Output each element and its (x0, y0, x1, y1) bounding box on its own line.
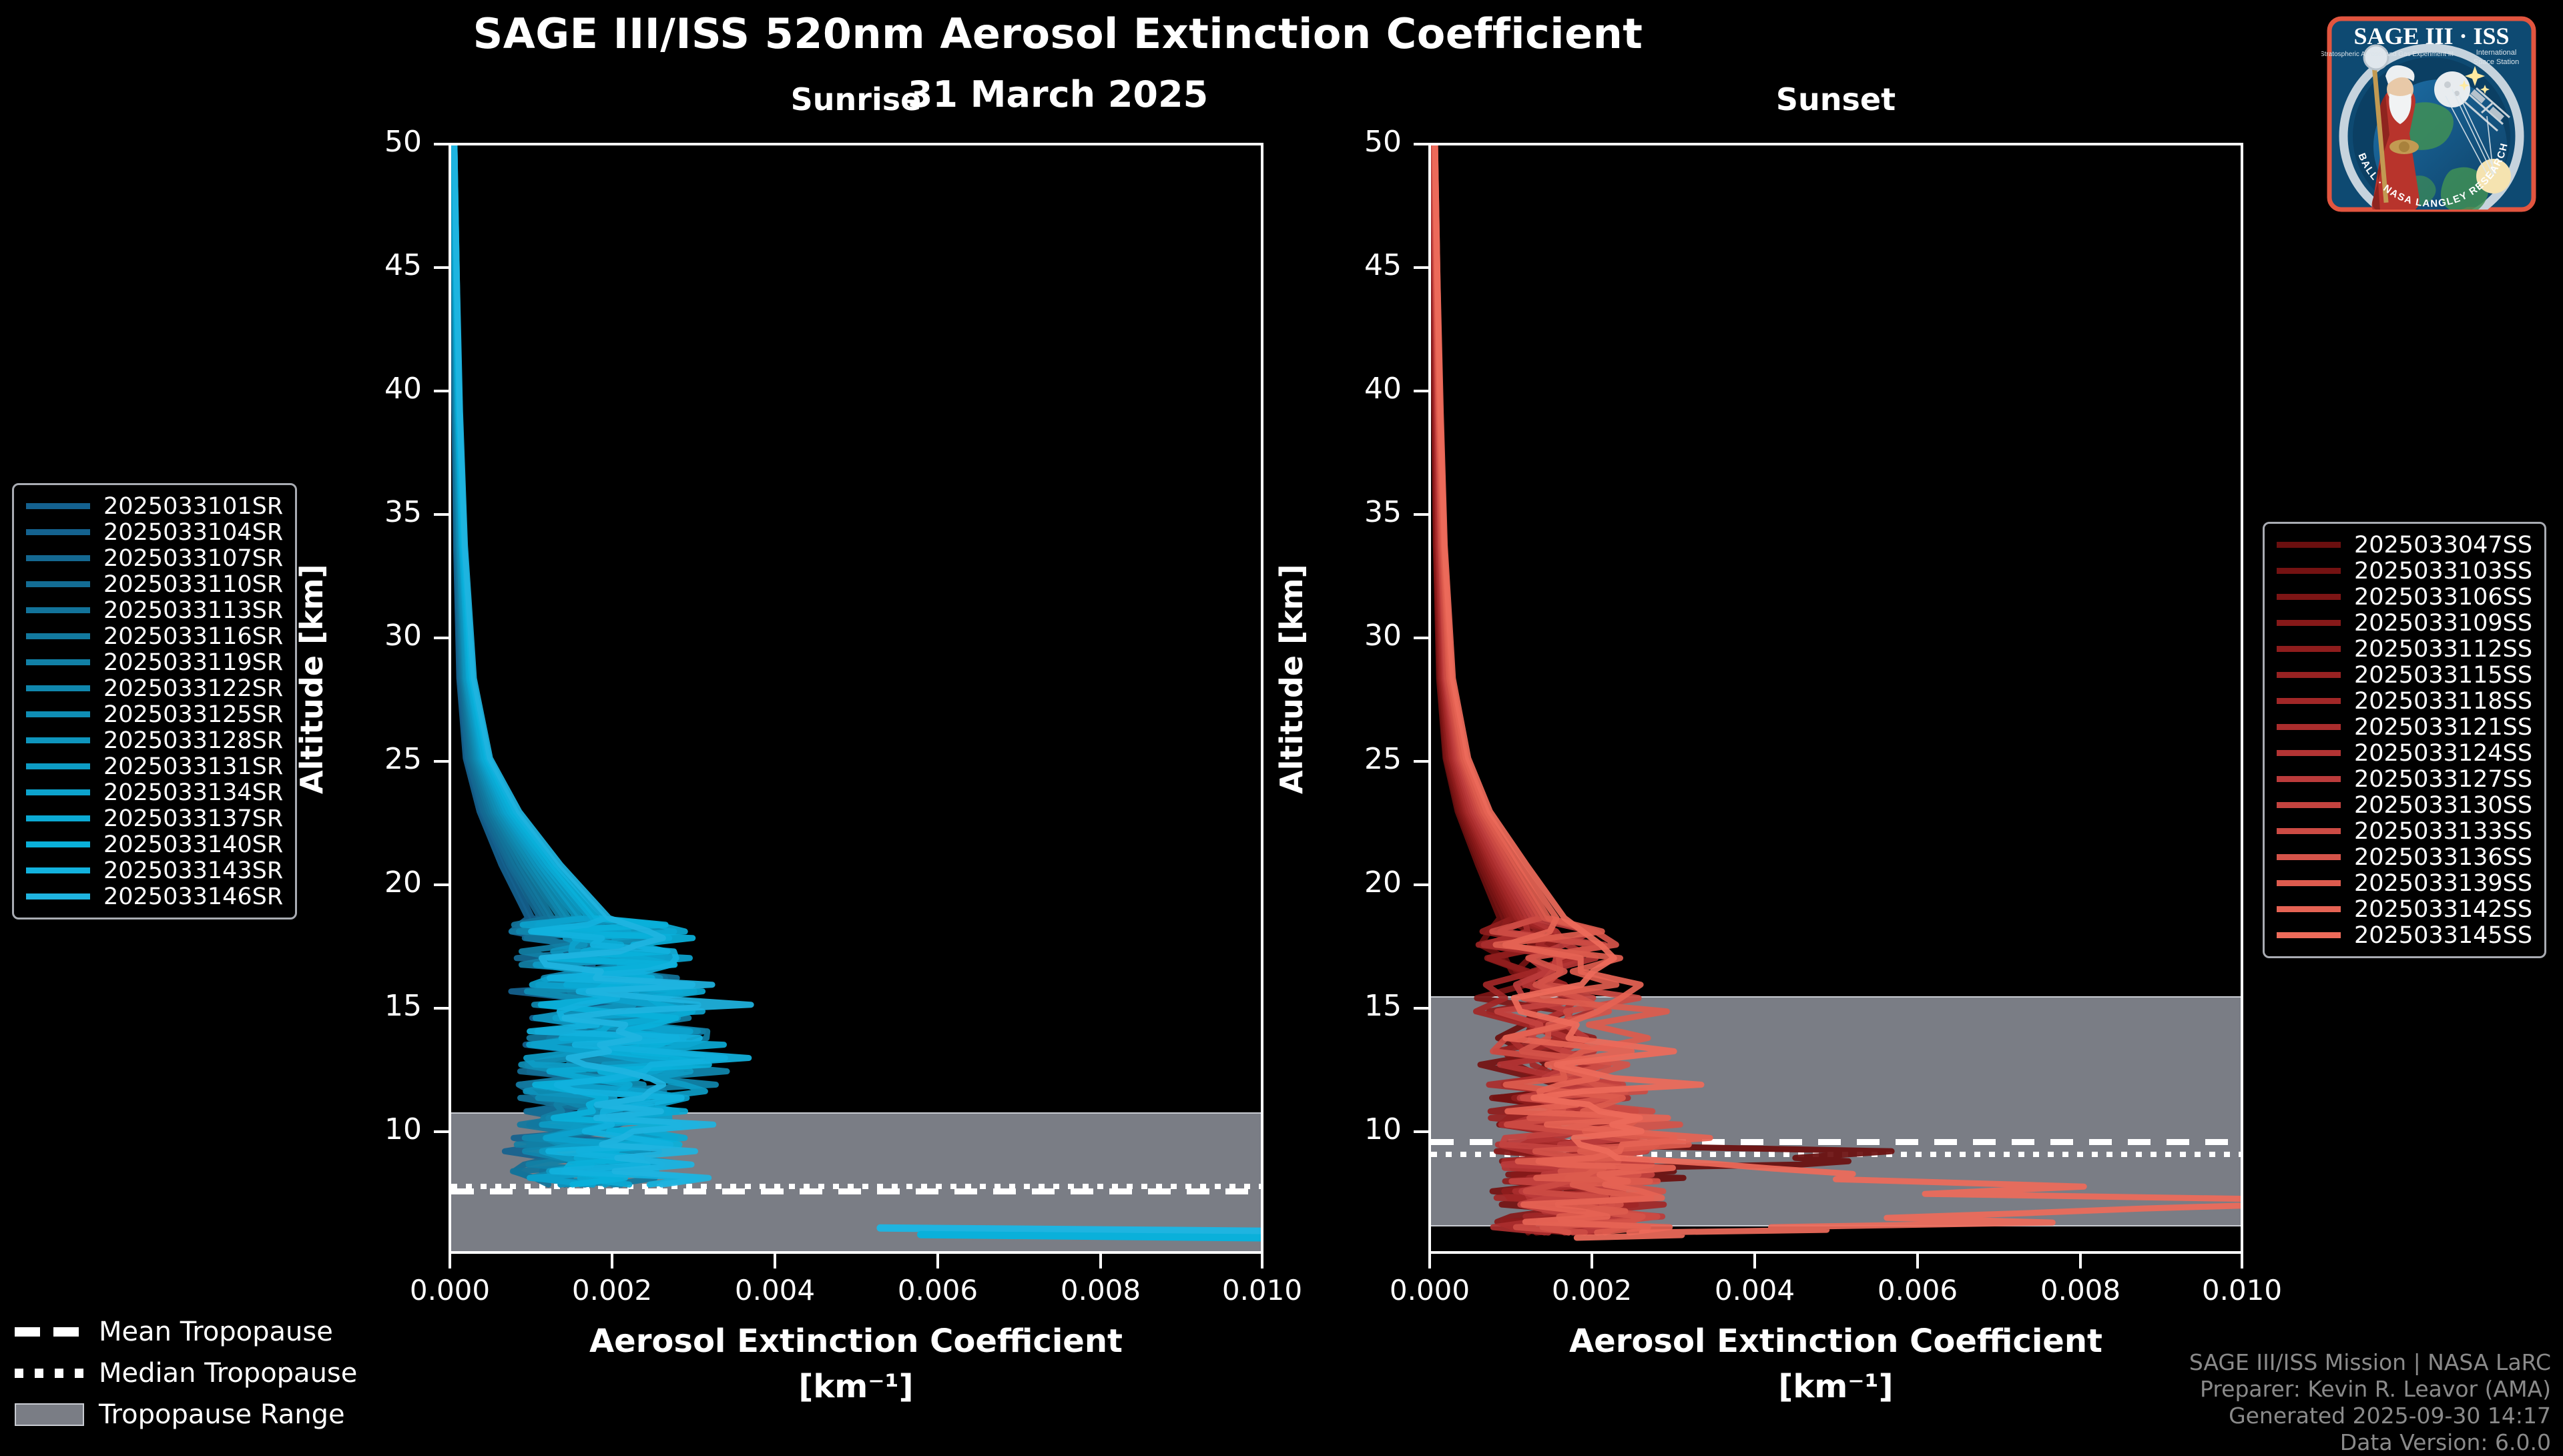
dashed-line-icon (15, 1327, 84, 1337)
line-color-swatch-icon (2277, 724, 2341, 730)
x-tick-label: 0.000 (1353, 1274, 1506, 1307)
line-color-swatch-icon (2277, 750, 2341, 756)
legend-label: 2025033128SR (103, 727, 283, 754)
band-swatch-icon (15, 1403, 84, 1426)
line-color-swatch-icon (2277, 776, 2341, 782)
y-tick-left (434, 390, 449, 392)
legend-item[interactable]: 2025033104SR (26, 519, 283, 545)
credit-line-preparer: Preparer: Kevin R. Leavor (AMA) (2189, 1376, 2551, 1403)
legend-label: 2025033142SS (2354, 896, 2532, 923)
legend-sunset[interactable]: 2025033047SS2025033103SS2025033106SS2025… (2263, 522, 2546, 958)
line-color-swatch-icon (2277, 646, 2341, 652)
x-tick-label: 0.010 (1185, 1274, 1339, 1307)
legend-label: 2025033103SS (2354, 558, 2532, 585)
line-color-swatch-icon (2277, 802, 2341, 808)
line-color-swatch-icon (26, 659, 90, 665)
x-tick-left (611, 1254, 613, 1268)
x-tick-right (1428, 1254, 1431, 1268)
legend-label: 2025033145SS (2354, 922, 2532, 949)
y-tick-label: 35 (322, 495, 422, 529)
logo-subtitle-left: Stratospheric Aerosol and Gas Experiment… (2321, 51, 2454, 58)
legend-item[interactable]: 2025033122SR (26, 675, 283, 701)
legend-label: 2025033119SR (103, 649, 283, 676)
line-color-swatch-icon (2277, 906, 2341, 912)
x-axis-title-left: Aerosol Extinction Coefficient (449, 1323, 1263, 1360)
x-tick-left (449, 1254, 451, 1268)
x-tick-label: 0.004 (698, 1274, 852, 1307)
legend-item[interactable]: 2025033145SS (2277, 922, 2532, 948)
x-tick-label: 0.010 (2165, 1274, 2319, 1307)
logo-subtitle-right-1: International (2476, 49, 2517, 57)
legend-item-tropopause-range[interactable]: Tropopause Range (15, 1394, 357, 1435)
series-lines-sunset (1431, 145, 2241, 1251)
legend-item[interactable]: 2025033119SR (26, 649, 283, 675)
x-tick-right (1916, 1254, 1919, 1268)
x-tick-label: 0.002 (535, 1274, 689, 1307)
line-color-swatch-icon (2277, 854, 2341, 860)
legend-label: Tropopause Range (99, 1399, 345, 1430)
legend-label: 2025033101SR (103, 493, 283, 520)
legend-item[interactable]: 2025033113SR (26, 597, 283, 623)
y-tick-right (1414, 1130, 1428, 1133)
y-tick-label: 15 (1302, 989, 1402, 1023)
line-color-swatch-icon (26, 789, 90, 795)
y-axis-title-left: Altitude [km] (294, 564, 330, 794)
y-tick-right (1414, 390, 1428, 392)
x-axis-unit-right: [km⁻¹] (1428, 1368, 2243, 1405)
y-tick-label: 30 (1302, 619, 1402, 653)
legend-label: 2025033140SR (103, 831, 283, 858)
legend-label: 2025033134SR (103, 779, 283, 806)
line-color-swatch-icon (26, 633, 90, 639)
legend-label: 2025033127SS (2354, 766, 2532, 793)
line-color-swatch-icon (2277, 594, 2341, 600)
line-color-swatch-icon (26, 867, 90, 873)
x-axis-title-right: Aerosol Extinction Coefficient (1428, 1323, 2243, 1360)
x-tick-label: 0.006 (861, 1274, 1015, 1307)
y-tick-label: 40 (322, 372, 422, 406)
y-tick-left (434, 143, 449, 145)
x-tick-right (2079, 1254, 2082, 1268)
legend-label: 2025033125SR (103, 701, 283, 728)
profile-line-offscale (880, 1228, 1261, 1231)
legend-item[interactable]: 2025033133SS (2277, 818, 2532, 844)
credits-block: SAGE III/ISS Mission | NASA LaRC Prepare… (2189, 1349, 2551, 1456)
legend-label: 2025033137SR (103, 805, 283, 832)
x-axis-unit-left: [km⁻¹] (449, 1368, 1263, 1405)
y-tick-left (434, 883, 449, 886)
legend-label: 2025033124SS (2354, 740, 2532, 767)
x-tick-right (1591, 1254, 1593, 1268)
legend-label: 2025033112SS (2354, 636, 2532, 663)
legend-label: 2025033133SS (2354, 818, 2532, 845)
legend-label: Mean Tropopause (99, 1317, 333, 1347)
line-color-swatch-icon (2277, 672, 2341, 678)
legend-item[interactable]: 2025033115SS (2277, 662, 2532, 688)
legend-item[interactable]: 2025033109SS (2277, 610, 2532, 636)
legend-item[interactable]: 2025033143SR (26, 857, 283, 883)
legend-label: 2025033139SS (2354, 870, 2532, 897)
x-tick-left (1099, 1254, 1102, 1268)
x-tick-left (936, 1254, 939, 1268)
legend-label: 2025033118SS (2354, 688, 2532, 715)
legend-item[interactable]: 2025033142SS (2277, 896, 2532, 922)
y-tick-label: 15 (322, 989, 422, 1023)
legend-item-mean-tropopause[interactable]: Mean Tropopause (15, 1311, 357, 1353)
y-tick-label: 50 (1302, 125, 1402, 159)
x-tick-right (1753, 1254, 1756, 1268)
plot-panel-sunrise (449, 143, 1263, 1254)
legend-item[interactable]: 2025033110SR (26, 571, 283, 597)
x-tick-label: 0.002 (1515, 1274, 1669, 1307)
legend-label: 2025033107SR (103, 545, 283, 572)
legend-item[interactable]: 2025033124SS (2277, 740, 2532, 766)
logo-subtitle-right-2: Space Station (2474, 58, 2520, 66)
legend-item[interactable]: 2025033140SR (26, 831, 283, 857)
legend-item[interactable]: 2025033136SS (2277, 844, 2532, 870)
series-lines-sunrise (451, 145, 1261, 1251)
y-tick-left (434, 266, 449, 269)
y-tick-left (434, 1007, 449, 1010)
line-color-swatch-icon (2277, 932, 2341, 938)
line-color-swatch-icon (26, 893, 90, 899)
y-tick-right (1414, 760, 1428, 763)
y-tick-label: 20 (1302, 865, 1402, 899)
credit-line-generated: Generated 2025-09-30 14:17 (2189, 1403, 2551, 1429)
y-tick-left (434, 1130, 449, 1133)
x-tick-left (774, 1254, 776, 1268)
line-color-swatch-icon (26, 841, 90, 847)
legend-label: 2025033106SS (2354, 584, 2532, 611)
y-tick-right (1414, 513, 1428, 516)
line-color-swatch-icon (2277, 880, 2341, 886)
legend-item[interactable]: 2025033130SS (2277, 792, 2532, 818)
legend-item[interactable]: 2025033107SR (26, 545, 283, 571)
legend-item[interactable]: 2025033146SR (26, 883, 283, 909)
line-color-swatch-icon (2277, 568, 2341, 574)
legend-item[interactable]: 2025033112SS (2277, 636, 2532, 662)
y-tick-left (434, 513, 449, 516)
legend-label: 2025033131SR (103, 753, 283, 780)
credit-line-version: Data Version: 6.0.0 (2189, 1429, 2551, 1456)
panel-title-sunrise: Sunrise (449, 81, 1263, 117)
legend-item[interactable]: 2025033047SS (2277, 532, 2532, 558)
y-tick-right (1414, 143, 1428, 145)
y-axis-title-right: Altitude [km] (1273, 564, 1310, 794)
line-color-swatch-icon (2277, 620, 2341, 626)
legend-item[interactable]: 2025033101SR (26, 493, 283, 519)
line-color-swatch-icon (26, 555, 90, 561)
line-color-swatch-icon (2277, 698, 2341, 704)
sage-iii-iss-mission-patch-logo: BALL · NASA LANGLEY RESEARCH CENTER · TA… (2321, 9, 2542, 230)
legend-label: Median Tropopause (99, 1358, 357, 1389)
line-color-swatch-icon (26, 737, 90, 743)
legend-item[interactable]: 2025033106SS (2277, 584, 2532, 610)
y-tick-label: 45 (1302, 248, 1402, 282)
credit-line-mission: SAGE III/ISS Mission | NASA LaRC (2189, 1349, 2551, 1376)
legend-item[interactable]: 2025033103SS (2277, 558, 2532, 584)
line-color-swatch-icon (26, 607, 90, 613)
x-tick-label: 0.008 (2004, 1274, 2157, 1307)
legend-item[interactable]: 2025033118SS (2277, 688, 2532, 714)
legend-item[interactable]: 2025033121SS (2277, 714, 2532, 740)
x-tick-label: 0.008 (1024, 1274, 1177, 1307)
legend-item[interactable]: 2025033134SR (26, 779, 283, 805)
x-tick-left (1261, 1254, 1263, 1268)
y-tick-label: 25 (322, 742, 422, 776)
legend-label: 2025033116SR (103, 623, 283, 650)
legend-label: 2025033122SR (103, 675, 283, 702)
legend-item[interactable]: 2025033125SR (26, 701, 283, 727)
line-color-swatch-icon (2277, 828, 2341, 834)
legend-label: 2025033130SS (2354, 792, 2532, 819)
legend-label: 2025033121SS (2354, 714, 2532, 741)
legend-label: 2025033143SR (103, 857, 283, 884)
legend-item[interactable]: 2025033127SS (2277, 766, 2532, 792)
profile-line-offscale (921, 1234, 1261, 1238)
legend-item[interactable]: 2025033128SR (26, 727, 283, 753)
y-tick-left (434, 637, 449, 639)
legend-label: 2025033146SR (103, 883, 283, 910)
line-color-swatch-icon (26, 711, 90, 717)
x-tick-label: 0.004 (1678, 1274, 1831, 1307)
line-color-swatch-icon (26, 815, 90, 821)
y-tick-right (1414, 637, 1428, 639)
legend-label: 2025033136SS (2354, 844, 2532, 871)
legend-tropopause[interactable]: Mean Tropopause Median Tropopause Tropop… (15, 1311, 357, 1435)
y-tick-right (1414, 883, 1428, 886)
x-tick-label: 0.000 (373, 1274, 527, 1307)
y-tick-label: 35 (1302, 495, 1402, 529)
dotted-line-icon (15, 1369, 84, 1378)
x-tick-label: 0.006 (1841, 1274, 1994, 1307)
y-tick-label: 20 (322, 865, 422, 899)
panel-title-sunset: Sunset (1428, 81, 2243, 117)
legend-item[interactable]: 2025033139SS (2277, 870, 2532, 896)
legend-label: 2025033113SR (103, 597, 283, 624)
legend-label: 2025033115SS (2354, 662, 2532, 689)
line-color-swatch-icon (26, 581, 90, 587)
legend-item-median-tropopause[interactable]: Median Tropopause (15, 1353, 357, 1394)
y-tick-label: 10 (322, 1112, 422, 1146)
line-color-swatch-icon (26, 503, 90, 509)
y-tick-label: 25 (1302, 742, 1402, 776)
legend-item[interactable]: 2025033131SR (26, 753, 283, 779)
y-tick-label: 50 (322, 125, 422, 159)
legend-label: 2025033109SS (2354, 610, 2532, 637)
x-tick-right (2241, 1254, 2243, 1268)
legend-item[interactable]: 2025033116SR (26, 623, 283, 649)
legend-label: 2025033047SS (2354, 532, 2532, 559)
y-tick-right (1414, 266, 1428, 269)
legend-item[interactable]: 2025033137SR (26, 805, 283, 831)
y-tick-right (1414, 1007, 1428, 1010)
legend-sunrise[interactable]: 2025033101SR2025033104SR2025033107SR2025… (12, 483, 297, 920)
line-color-swatch-icon (26, 529, 90, 535)
line-color-swatch-icon (26, 685, 90, 691)
profile-line (1434, 145, 1664, 1232)
y-tick-label: 10 (1302, 1112, 1402, 1146)
line-color-swatch-icon (2277, 542, 2341, 548)
logo-title: SAGE III · ISS (2353, 23, 2509, 49)
y-tick-label: 45 (322, 248, 422, 282)
page-title: SAGE III/ISS 520nm Aerosol Extinction Co… (0, 9, 2116, 58)
y-tick-label: 30 (322, 619, 422, 653)
plot-panel-sunset (1428, 143, 2243, 1254)
y-tick-label: 40 (1302, 372, 1402, 406)
y-tick-left (434, 760, 449, 763)
legend-label: 2025033104SR (103, 519, 283, 546)
legend-label: 2025033110SR (103, 571, 283, 598)
line-color-swatch-icon (26, 763, 90, 769)
